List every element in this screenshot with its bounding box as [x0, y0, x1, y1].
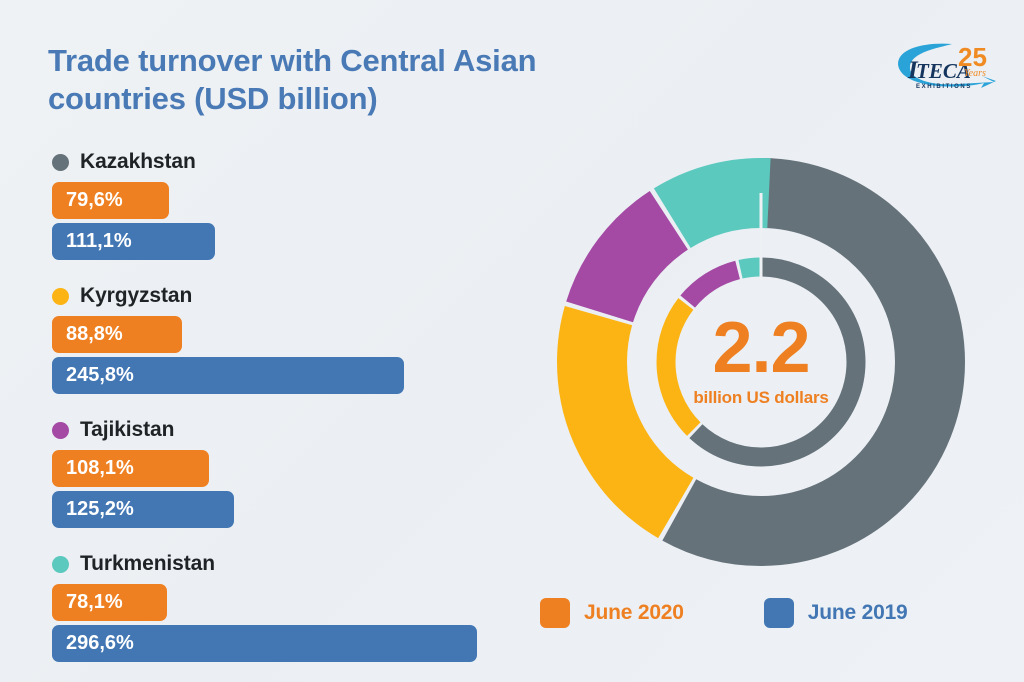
bar-2019-tajikistan: 125,2% [52, 491, 234, 528]
iteca-logo: I TECA EXHIBITIONS 25 Years [886, 36, 1006, 98]
iteca-logo-svg: I TECA EXHIBITIONS 25 Years [886, 36, 1006, 98]
bar-value-label: 111,1% [66, 230, 132, 253]
bar-value-label: 245,8% [66, 364, 134, 387]
country-header: Turkmenistan [52, 550, 532, 578]
donut-inner-ring [666, 243, 856, 457]
logo-subtitle: EXHIBITIONS [916, 84, 972, 90]
bar-2020-tajikistan: 108,1% [52, 450, 209, 487]
bar-value-label: 79,6% [66, 189, 123, 212]
legend-swatch-blue [764, 598, 794, 628]
bar-2020-turkmenistan: 78,1% [52, 584, 167, 621]
bar-value-label: 108,1% [66, 457, 134, 480]
country-group-turkmenistan: Turkmenistan 78,1% 296,6% [52, 550, 532, 662]
country-header: Tajikistan [52, 416, 532, 444]
country-group-tajikistan: Tajikistan 108,1% 125,2% [52, 416, 532, 528]
donut-chart: 2.2 billion US dollars [557, 158, 965, 566]
country-color-dot-kazakhstan [52, 154, 69, 171]
bar-value-label: 88,8% [66, 323, 123, 346]
legend-label: June 2019 [808, 601, 908, 625]
legend-label: June 2020 [584, 601, 684, 625]
donut-chart-svg [557, 158, 965, 566]
legend-item-june-2020: June 2020 [540, 598, 684, 628]
bar-chart: Kazakhstan 79,6% 111,1% Kyrgyzstan 88,8%… [52, 148, 532, 662]
country-header: Kyrgyzstan [52, 282, 532, 310]
legend-swatch-orange [540, 598, 570, 628]
page-title-line-1: Trade turnover with Central Asian [48, 42, 668, 80]
country-color-dot-turkmenistan [52, 556, 69, 573]
page-title: Trade turnover with Central Asian countr… [48, 42, 668, 118]
country-group-kyrgyzstan: Kyrgyzstan 88,8% 245,8% [52, 282, 532, 394]
bar-value-label: 78,1% [66, 591, 123, 614]
country-label: Turkmenistan [80, 552, 215, 576]
country-header: Kazakhstan [52, 148, 532, 176]
bar-2019-kyrgyzstan: 245,8% [52, 357, 404, 394]
country-color-dot-tajikistan [52, 422, 69, 439]
infographic-page: Trade turnover with Central Asian countr… [0, 0, 1024, 682]
bar-2020-kazakhstan: 79,6% [52, 182, 169, 219]
country-label: Kazakhstan [80, 150, 196, 174]
legend-item-june-2019: June 2019 [764, 598, 908, 628]
bar-2019-turkmenistan: 296,6% [52, 625, 477, 662]
bar-value-label: 296,6% [66, 632, 134, 655]
page-title-line-2: countries (USD billion) [48, 80, 668, 118]
country-group-kazakhstan: Kazakhstan 79,6% 111,1% [52, 148, 532, 260]
country-label: Tajikistan [80, 418, 174, 442]
bar-2020-kyrgyzstan: 88,8% [52, 316, 182, 353]
logo-anniversary-word: Years [964, 68, 986, 79]
bar-2019-kazakhstan: 111,1% [52, 223, 215, 260]
country-color-dot-kyrgyzstan [52, 288, 69, 305]
country-label: Kyrgyzstan [80, 284, 192, 308]
bar-value-label: 125,2% [66, 498, 134, 521]
chart-legend: June 2020 June 2019 [540, 598, 1000, 628]
